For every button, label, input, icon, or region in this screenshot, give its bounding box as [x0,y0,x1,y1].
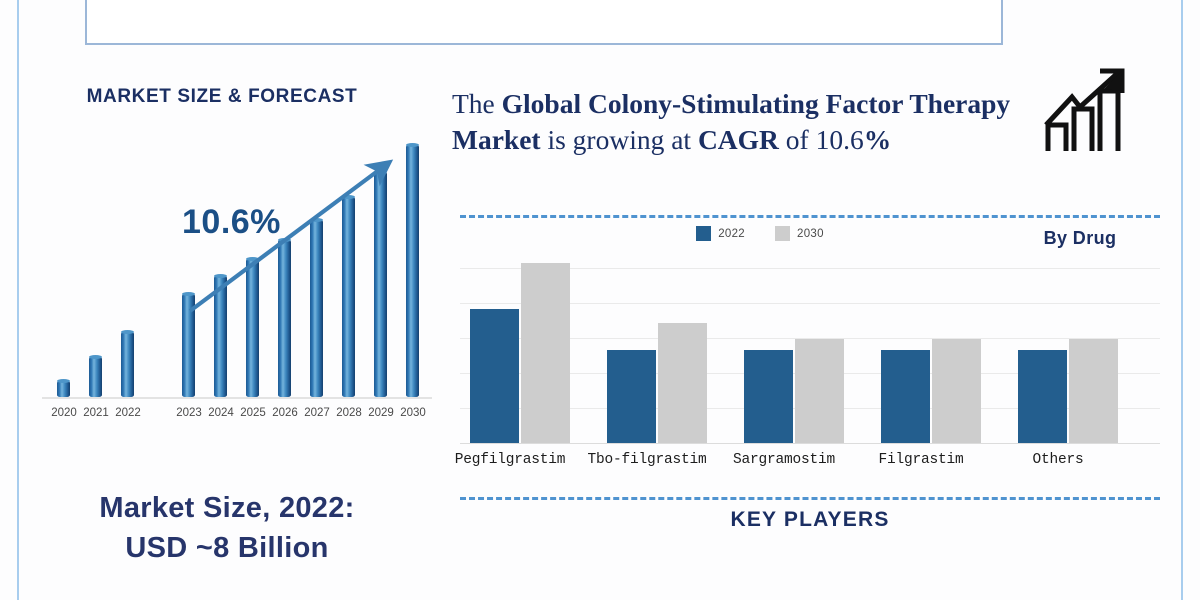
forecast-bar-2021 [89,357,102,397]
bar-2030-filgrastim [932,339,981,443]
headline-text-2: is growing at [541,124,698,155]
legend-swatch-2030 [775,226,790,241]
page-frame-left-rule [17,0,19,600]
category-label-pegfilgrastim: Pegfilgrastim [430,452,590,468]
market-size-forecast-panel: MARKET SIZE & FORECAST 10.6% 20202021202… [22,60,442,590]
headline-text-1: The [452,88,502,119]
forecast-bar-2030 [406,145,419,397]
legend-label-2030: 2030 [797,228,824,240]
divider-top [460,215,1160,218]
category-label-sargramostim: Sargramostim [704,452,864,468]
bar-2030-tbo-filgrastim [658,323,707,443]
forecast-bar-2027 [310,220,323,397]
forecast-bar-2026 [278,240,291,397]
cagr-annotation: 10.6% [182,203,281,242]
forecast-x-label-2030: 2030 [396,407,430,419]
legend-swatch-2022 [696,226,711,241]
infographic-page: COLONY-STIMULATING FACTOR THERAPY MARKET… [0,0,1200,600]
forecast-x-label-2029: 2029 [364,407,398,419]
forecast-x-label-2026: 2026 [268,407,302,419]
market-size-value-line1: Market Size, 2022: [22,492,432,525]
forecast-x-label-2027: 2027 [300,407,334,419]
chart-legend: 2022 2030 [450,226,1070,241]
forecast-bar-2024 [214,276,227,397]
title-box [85,0,1003,45]
forecast-bar-2023 [182,294,195,397]
forecast-plot-area [42,145,432,397]
bar-2022-pegfilgrastim [470,309,519,443]
category-label-filgrastim: Filgrastim [841,452,1001,468]
category-label-tbo-filgrastim: Tbo-filgrastim [567,452,727,468]
bar-chart-growth-icon [1042,63,1142,158]
by-drug-bar-chart [460,254,1160,444]
market-size-value-line2: USD ~8 Billion [22,532,432,565]
bar-2022-tbo-filgrastim [607,350,656,443]
bar-2022-others [1018,350,1067,443]
forecast-x-label-2023: 2023 [172,407,206,419]
headline-text-3: of 10.6 [779,124,864,155]
market-size-forecast-heading: MARKET SIZE & FORECAST [22,86,422,108]
page-frame-right-rule [1181,0,1183,600]
forecast-x-label-2024: 2024 [204,407,238,419]
headline-bold-cagr: CAGR [698,124,779,155]
legend-label-2022: 2022 [718,228,745,240]
forecast-bar-2020 [57,381,70,397]
forecast-bar-2022 [121,332,134,397]
by-drug-panel: The Global Colony-Stimulating Factor The… [450,60,1180,590]
bar-2030-others [1069,339,1118,443]
forecast-bar-2028 [342,197,355,397]
bar-2022-sargramostim [744,350,793,443]
page-title: COLONY-STIMULATING FACTOR THERAPY MARKET [85,0,1003,4]
headline-bold-percent: % [864,124,892,155]
divider-bottom [460,497,1160,500]
forecast-x-label-2022: 2022 [111,407,145,419]
category-label-others: Others [978,452,1138,468]
forecast-x-label-2025: 2025 [236,407,270,419]
key-players-label: KEY PLAYERS [460,508,1160,532]
bar-2030-sargramostim [795,339,844,443]
chart-baseline [460,443,1160,444]
bar-2030-pegfilgrastim [521,263,570,443]
forecast-x-label-2021: 2021 [79,407,113,419]
forecast-bar-2025 [246,259,259,397]
headline-statement: The Global Colony-Stimulating Factor The… [452,86,1042,158]
by-drug-label: By Drug [990,228,1170,249]
forecast-bar-2029 [374,172,387,397]
legend-item-2030: 2030 [775,226,824,241]
forecast-axis-line [42,397,432,399]
forecast-x-label-2020: 2020 [47,407,81,419]
market-size-forecast-chart: 10.6% 2020202120222023202420252026202720… [42,145,432,455]
legend-item-2022: 2022 [696,226,745,241]
bar-2022-filgrastim [881,350,930,443]
forecast-x-label-2028: 2028 [332,407,366,419]
